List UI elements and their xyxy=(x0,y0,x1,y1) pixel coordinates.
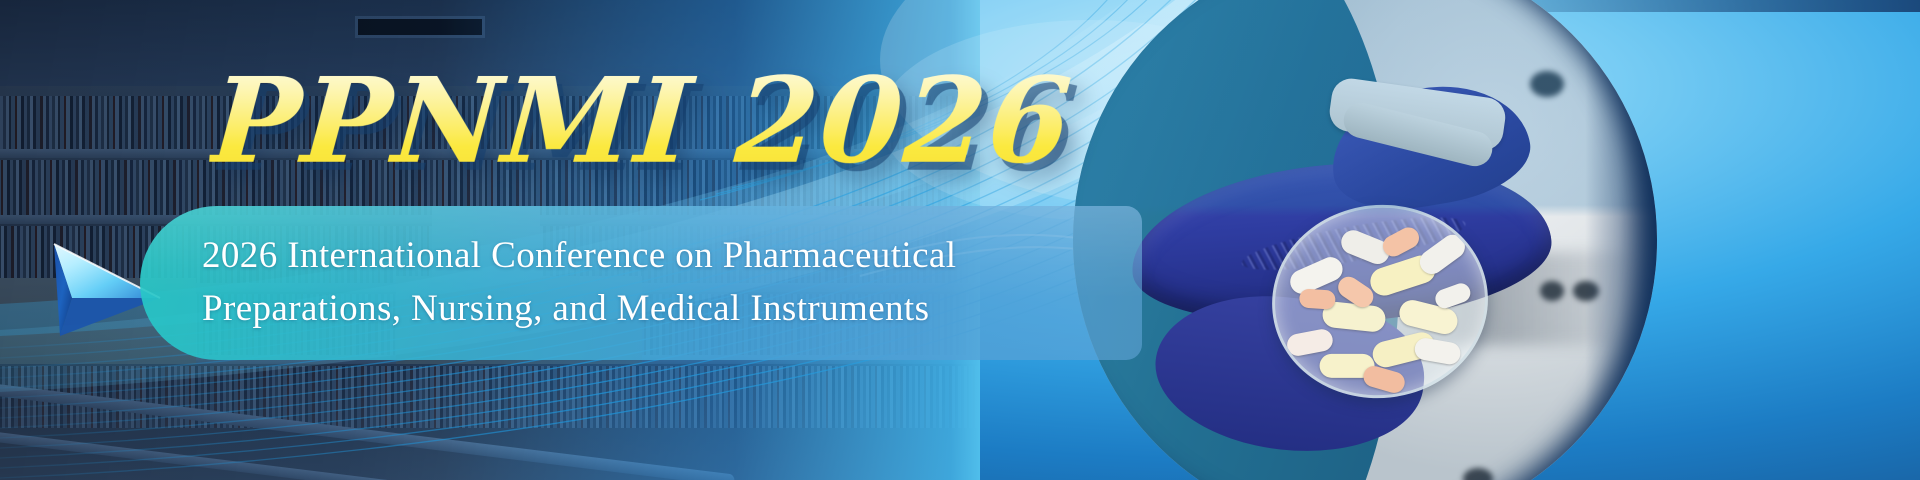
conference-banner: 2026 International Conference on Pharmac… xyxy=(0,0,1920,480)
subtitle-text: 2026 International Conference on Pharmac… xyxy=(202,230,1122,335)
page-title: PPNMI 2026 xyxy=(208,62,1077,180)
subtitle-line-2: Preparations, Nursing, and Medical Instr… xyxy=(202,283,1122,336)
photo-circle-edge xyxy=(1073,0,1657,480)
subtitle-line-1: 2026 International Conference on Pharmac… xyxy=(202,230,1122,283)
gloved-hands-petri-dish-pills-photo xyxy=(1073,0,1657,480)
subtitle-panel: 2026 International Conference on Pharmac… xyxy=(140,206,1142,360)
